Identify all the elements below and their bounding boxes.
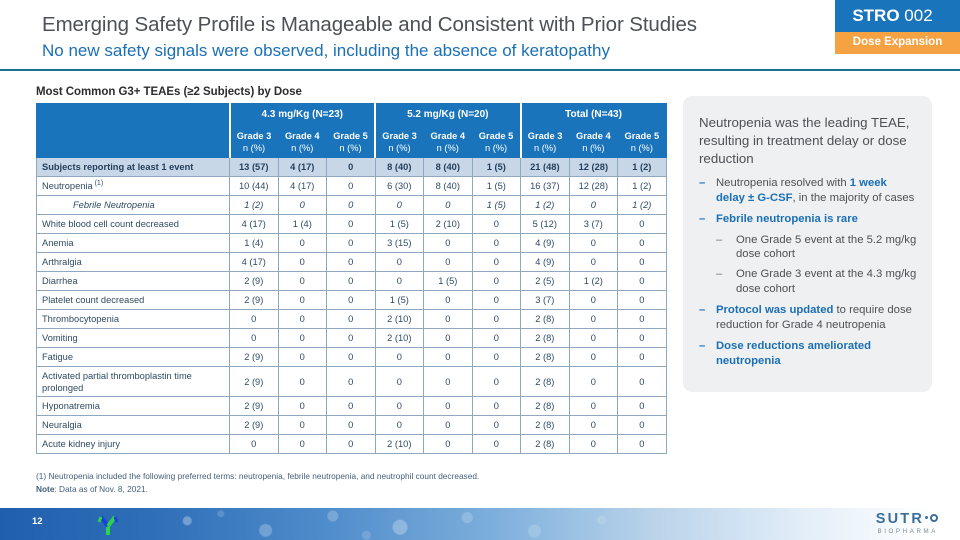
- table-cell: 0: [424, 397, 473, 416]
- insight-bullet: –Neutropenia resolved with 1 week delay …: [699, 176, 918, 205]
- table-cell: 0: [472, 435, 521, 454]
- table-cell: 1 (2): [618, 196, 667, 215]
- row-label: Hyponatremia: [37, 397, 230, 416]
- table-cell: 0: [278, 416, 327, 435]
- table-cell: 1 (2): [521, 196, 570, 215]
- study-badge-label: STRO 002: [835, 0, 960, 32]
- table-cell: 0: [618, 310, 667, 329]
- table-row: Subjects reporting at least 1 event13 (5…: [37, 158, 667, 177]
- table-cell: 0: [424, 416, 473, 435]
- table-cell: 4 (9): [521, 234, 570, 253]
- table-cell: 0: [569, 234, 618, 253]
- table-cell: 4 (17): [278, 158, 327, 177]
- table-cell: 1 (4): [278, 215, 327, 234]
- table-cell: 21 (48): [521, 158, 570, 177]
- table-cell: 0: [327, 367, 376, 397]
- table-cell: 12 (28): [569, 158, 618, 177]
- row-label: Diarrhea: [37, 272, 230, 291]
- col-header-unit: n (%): [424, 142, 472, 154]
- slide-footer: 12 SUTR BIOPHARMA: [0, 508, 960, 540]
- col-header-g3-43: Grade 3 n (%): [230, 126, 279, 158]
- sutro-wordmark: SUTR: [876, 512, 938, 527]
- table-cell: 0: [569, 416, 618, 435]
- col-header-unit: n (%): [376, 142, 423, 154]
- sutro-wordmark-text: SUTR: [876, 511, 924, 527]
- table-cell: 1 (5): [375, 291, 424, 310]
- subbullet-text: One Grade 3 event at the 4.3 mg/kg dose …: [736, 268, 916, 295]
- table-row: Neuralgia2 (9)000002 (8)00: [37, 416, 667, 435]
- table-cell: 10 (44): [230, 177, 279, 196]
- col-header-unit: n (%): [327, 142, 374, 154]
- footnote-note-label: Note: [36, 484, 54, 494]
- slide-header: Emerging Safety Profile is Manageable an…: [0, 0, 960, 71]
- col-header-g4-43: Grade 4 n (%): [278, 126, 327, 158]
- table-cell: 0: [278, 435, 327, 454]
- table-cell: 2 (10): [375, 310, 424, 329]
- bullet-highlight-text: Febrile neutropenia is rare: [716, 213, 858, 225]
- table-cell: 2 (8): [521, 348, 570, 367]
- table-cell: 0: [230, 329, 279, 348]
- bullet-dash-icon: –: [699, 212, 705, 227]
- table-cell: 0: [472, 416, 521, 435]
- table-row: Febrile Neutropenia1 (2)00001 (5)1 (2)01…: [37, 196, 667, 215]
- row-label: Anemia: [37, 234, 230, 253]
- table-cell: 0: [472, 348, 521, 367]
- row-label: Neutropenia (1): [37, 177, 230, 196]
- table-cell: 2 (10): [375, 329, 424, 348]
- table-cell: 0: [569, 348, 618, 367]
- table-row: Fatigue2 (9)000002 (8)00: [37, 348, 667, 367]
- row-label: Febrile Neutropenia: [37, 196, 230, 215]
- table-cell: 0: [472, 253, 521, 272]
- row-label: Subjects reporting at least 1 event: [37, 158, 230, 177]
- row-label: Vomiting: [37, 329, 230, 348]
- table-body: Subjects reporting at least 1 event13 (5…: [37, 158, 667, 454]
- sutro-ring-icon: [930, 514, 938, 522]
- table-cell: 2 (8): [521, 435, 570, 454]
- table-cell: 8 (40): [424, 158, 473, 177]
- table-cell: 4 (17): [230, 253, 279, 272]
- row-label: Neuralgia: [37, 416, 230, 435]
- table-cell: 0: [569, 310, 618, 329]
- col-header-grade: Grade 4: [285, 131, 320, 141]
- insights-lead-text: Neutropenia was the leading TEAE, result…: [699, 114, 918, 168]
- sutro-dot-icon: [925, 516, 928, 519]
- col-header-unit: n (%): [231, 142, 278, 154]
- table-cell: 0: [327, 177, 376, 196]
- table-cell: 0: [278, 348, 327, 367]
- table-cell: 3 (7): [521, 291, 570, 310]
- table-cell: 0: [472, 272, 521, 291]
- table-row: Arthralgia4 (17)000004 (9)00: [37, 253, 667, 272]
- table-cell: 0: [424, 196, 473, 215]
- table-cell: 0: [278, 196, 327, 215]
- insight-bullet: –Febrile neutropenia is rare–One Grade 5…: [699, 212, 918, 296]
- table-row: Platelet count decreased2 (9)001 (5)003 …: [37, 291, 667, 310]
- table-cell: 2 (9): [230, 416, 279, 435]
- table-cell: 0: [618, 272, 667, 291]
- table-cell: 0: [472, 397, 521, 416]
- table-cell: 13 (57): [230, 158, 279, 177]
- col-header-g5-total: Grade 5 n (%): [618, 126, 667, 158]
- table-cell: 1 (5): [375, 215, 424, 234]
- study-badge-name: STRO: [852, 6, 899, 25]
- table-cell: 2 (8): [521, 416, 570, 435]
- row-label: White blood cell count decreased: [37, 215, 230, 234]
- table-cell: 1 (4): [230, 234, 279, 253]
- col-header-grade: Grade 4: [430, 131, 465, 141]
- table-cell: 16 (37): [521, 177, 570, 196]
- table-cell: 0: [618, 291, 667, 310]
- table-cell: 0: [618, 397, 667, 416]
- subbullet-text: One Grade 5 event at the 5.2 mg/kg dose …: [736, 234, 916, 261]
- table-cell: 1 (2): [618, 177, 667, 196]
- table-cell: 0: [278, 272, 327, 291]
- table-cell: 0: [375, 272, 424, 291]
- page-subtitle: No new safety signals were observed, inc…: [42, 39, 832, 63]
- table-cell: 0: [569, 329, 618, 348]
- table-cell: 1 (5): [472, 196, 521, 215]
- col-header-g4-52: Grade 4 n (%): [424, 126, 473, 158]
- table-cell: 0: [424, 367, 473, 397]
- table-cell: 6 (30): [375, 177, 424, 196]
- table-cell: 0: [472, 234, 521, 253]
- table-head: 4.3 mg/Kg (N=23) 5.2 mg/Kg (N=20) Total …: [37, 104, 667, 158]
- table-cell: 5 (12): [521, 215, 570, 234]
- table-cell: 0: [472, 329, 521, 348]
- bullet-highlight-text: Dose reductions ameliorated neutropenia: [716, 340, 871, 367]
- table-cell: 0: [327, 397, 376, 416]
- col-header-grade: Grade 3: [528, 131, 563, 141]
- table-cell: 2 (8): [521, 310, 570, 329]
- table-cell: 0: [424, 329, 473, 348]
- col-header-g5-43: Grade 5 n (%): [327, 126, 376, 158]
- table-cell: 0: [375, 397, 424, 416]
- table-row: Diarrhea2 (9)0001 (5)02 (5)1 (2)0: [37, 272, 667, 291]
- table-cell: 1 (2): [569, 272, 618, 291]
- table-row: Activated partial thromboplastin time pr…: [37, 367, 667, 397]
- teae-table-section: Most Common G3+ TEAEs (≥2 Subjects) by D…: [36, 86, 666, 454]
- row-label: Platelet count decreased: [37, 291, 230, 310]
- table-row: Neutropenia (1)10 (44)4 (17)06 (30)8 (40…: [37, 177, 667, 196]
- row-label: Acute kidney injury: [37, 435, 230, 454]
- col-header-unit: n (%): [279, 142, 327, 154]
- table-cell: 0: [278, 310, 327, 329]
- table-cell: 0: [327, 196, 376, 215]
- table-cell: 4 (17): [230, 215, 279, 234]
- table-cell: 1 (2): [618, 158, 667, 177]
- table-cell: 0: [569, 397, 618, 416]
- study-badge-number: 002: [904, 6, 932, 25]
- table-cell: 0: [375, 253, 424, 272]
- bubbles-texture: [120, 508, 680, 540]
- bullet-dash-icon: –: [699, 339, 705, 354]
- table-cell: 0: [375, 416, 424, 435]
- subbullet-dash-icon: –: [716, 267, 722, 282]
- sutro-logo: SUTR BIOPHARMA: [876, 512, 938, 536]
- table-cell: 0: [375, 196, 424, 215]
- footnote-note-text: : Data as of Nov. 8, 2021.: [54, 484, 147, 494]
- table-cell: 2 (10): [424, 215, 473, 234]
- table-cell: 0: [327, 272, 376, 291]
- table-cell: 2 (9): [230, 272, 279, 291]
- col-header-g5-52: Grade 5 n (%): [472, 126, 521, 158]
- table-cell: 0: [375, 367, 424, 397]
- table-row: Vomiting0002 (10)002 (8)00: [37, 329, 667, 348]
- table-corner-cell: [37, 104, 230, 158]
- col-header-unit: n (%): [473, 142, 520, 154]
- bullet-dash-icon: –: [699, 303, 705, 318]
- table-cell: 0: [569, 435, 618, 454]
- table-cell: 0: [472, 367, 521, 397]
- table-cell: 2 (8): [521, 397, 570, 416]
- table-cell: 0: [618, 253, 667, 272]
- table-row: White blood cell count decreased4 (17)1 …: [37, 215, 667, 234]
- table-cell: 8 (40): [375, 158, 424, 177]
- table-cell: 0: [424, 291, 473, 310]
- table-cell: 0: [424, 435, 473, 454]
- insights-bullet-list: –Neutropenia resolved with 1 week delay …: [699, 176, 918, 369]
- table-cell: 1 (5): [472, 177, 521, 196]
- table-cell: 0: [618, 234, 667, 253]
- study-badge: STRO 002 Dose Expansion: [835, 0, 960, 54]
- table-cell: 0: [618, 367, 667, 397]
- table-cell: 0: [278, 291, 327, 310]
- col-header-g3-52: Grade 3 n (%): [375, 126, 424, 158]
- table-cell: 0: [278, 329, 327, 348]
- bullet-text: Neutropenia resolved with: [716, 177, 850, 189]
- table-cell: 4 (9): [521, 253, 570, 272]
- table-cell: 0: [472, 310, 521, 329]
- table-cell: 2 (9): [230, 367, 279, 397]
- insight-subbullet-list: –One Grade 5 event at the 5.2 mg/kg dose…: [716, 233, 918, 296]
- bullet-dash-icon: –: [699, 176, 705, 191]
- col-header-unit: n (%): [522, 142, 569, 154]
- col-header-grade: Grade 5: [479, 131, 514, 141]
- table-cell: 1 (5): [472, 158, 521, 177]
- col-header-grade: Grade 5: [333, 131, 368, 141]
- table-cell: 0: [278, 234, 327, 253]
- table-cell: 0: [327, 310, 376, 329]
- table-row: Hyponatremia2 (9)000002 (8)00: [37, 397, 667, 416]
- footnote-note: Note: Data as of Nov. 8, 2021.: [36, 483, 656, 496]
- table-cell: 0: [569, 196, 618, 215]
- table-cell: 0: [569, 291, 618, 310]
- table-cell: 0: [618, 329, 667, 348]
- table-cell: 2 (5): [521, 272, 570, 291]
- table-cell: 0: [375, 348, 424, 367]
- table-cell: 0: [327, 329, 376, 348]
- table-cell: 0: [327, 416, 376, 435]
- antibody-icon: [96, 514, 120, 540]
- table-cell: 0: [424, 234, 473, 253]
- table-cell: 0: [569, 253, 618, 272]
- table-cell: 0: [327, 253, 376, 272]
- insight-bullet: –Dose reductions ameliorated neutropenia: [699, 339, 918, 368]
- table-cell: 0: [424, 310, 473, 329]
- table-cell: 0: [424, 253, 473, 272]
- table-cell: 0: [569, 367, 618, 397]
- teae-table: 4.3 mg/Kg (N=23) 5.2 mg/Kg (N=20) Total …: [36, 103, 667, 454]
- table-cell: 2 (8): [521, 367, 570, 397]
- footnotes: (1) Neutropenia included the following p…: [36, 470, 656, 495]
- table-cell: 0: [472, 215, 521, 234]
- table-cell: 4 (17): [278, 177, 327, 196]
- table-cell: 0: [424, 348, 473, 367]
- row-label: Fatigue: [37, 348, 230, 367]
- table-cell: 2 (9): [230, 348, 279, 367]
- col-header-grade: Grade 4: [576, 131, 611, 141]
- col-header-grade: Grade 3: [237, 131, 272, 141]
- table-cell: 0: [618, 348, 667, 367]
- study-phase-badge: Dose Expansion: [835, 32, 960, 54]
- insight-bullet: –Protocol was updated to require dose re…: [699, 303, 918, 332]
- table-cell: 0: [327, 435, 376, 454]
- table-cell: 0: [327, 291, 376, 310]
- table-row: Thrombocytopenia0002 (10)002 (8)00: [37, 310, 667, 329]
- page-title: Emerging Safety Profile is Manageable an…: [42, 12, 832, 38]
- col-header-grade: Grade 5: [625, 131, 660, 141]
- table-cell: 2 (8): [521, 329, 570, 348]
- table-cell: 1 (2): [230, 196, 279, 215]
- title-block: Emerging Safety Profile is Manageable an…: [42, 12, 832, 63]
- sutro-tagline: BIOPHARMA: [876, 528, 938, 536]
- slide-canvas: Emerging Safety Profile is Manageable an…: [0, 0, 960, 540]
- table-cell: 0: [230, 310, 279, 329]
- row-label: Arthralgia: [37, 253, 230, 272]
- table-cell: 3 (15): [375, 234, 424, 253]
- insights-panel: Neutropenia was the leading TEAE, result…: [683, 96, 932, 392]
- col-header-unit: n (%): [618, 142, 666, 154]
- row-label: Thrombocytopenia: [37, 310, 230, 329]
- bullet-highlight-text: Protocol was updated: [716, 304, 833, 316]
- row-label-footnote-marker: (1): [93, 180, 104, 187]
- row-label: Activated partial thromboplastin time pr…: [37, 367, 230, 397]
- table-cell: 2 (9): [230, 397, 279, 416]
- insight-subbullet: –One Grade 3 event at the 4.3 mg/kg dose…: [716, 267, 918, 296]
- table-cell: 2 (9): [230, 291, 279, 310]
- group-header-dose-52: 5.2 mg/Kg (N=20): [375, 104, 521, 126]
- group-header-dose-43: 4.3 mg/Kg (N=23): [230, 104, 376, 126]
- table-cell: 0: [327, 348, 376, 367]
- table-cell: 0: [278, 253, 327, 272]
- footnote-1: (1) Neutropenia included the following p…: [36, 470, 656, 483]
- table-cell: 0: [618, 215, 667, 234]
- col-header-grade: Grade 3: [382, 131, 417, 141]
- table-cell: 0: [327, 158, 376, 177]
- table-group-header-row: 4.3 mg/Kg (N=23) 5.2 mg/Kg (N=20) Total …: [37, 104, 667, 126]
- table-cell: 0: [618, 416, 667, 435]
- table-cell: 0: [230, 435, 279, 454]
- insight-subbullet: –One Grade 5 event at the 5.2 mg/kg dose…: [716, 233, 918, 262]
- table-cell: 3 (7): [569, 215, 618, 234]
- group-header-total: Total (N=43): [521, 104, 667, 126]
- table-cell: 1 (5): [424, 272, 473, 291]
- header-divider: [0, 69, 960, 71]
- page-number: 12: [32, 516, 43, 527]
- col-header-unit: n (%): [570, 142, 618, 154]
- table-cell: 0: [472, 291, 521, 310]
- subbullet-dash-icon: –: [716, 233, 722, 248]
- table-cell: 0: [278, 397, 327, 416]
- table-cell: 0: [327, 215, 376, 234]
- table-cell: 0: [278, 367, 327, 397]
- table-cell: 0: [327, 234, 376, 253]
- table-cell: 12 (28): [569, 177, 618, 196]
- table-cell: 8 (40): [424, 177, 473, 196]
- bullet-text: , in the majority of cases: [793, 192, 915, 204]
- table-cell: 2 (10): [375, 435, 424, 454]
- col-header-g4-total: Grade 4 n (%): [569, 126, 618, 158]
- col-header-g3-total: Grade 3 n (%): [521, 126, 570, 158]
- table-row: Acute kidney injury0002 (10)002 (8)00: [37, 435, 667, 454]
- table-caption: Most Common G3+ TEAEs (≥2 Subjects) by D…: [36, 86, 666, 98]
- table-row: Anemia1 (4)003 (15)004 (9)00: [37, 234, 667, 253]
- table-cell: 0: [618, 435, 667, 454]
